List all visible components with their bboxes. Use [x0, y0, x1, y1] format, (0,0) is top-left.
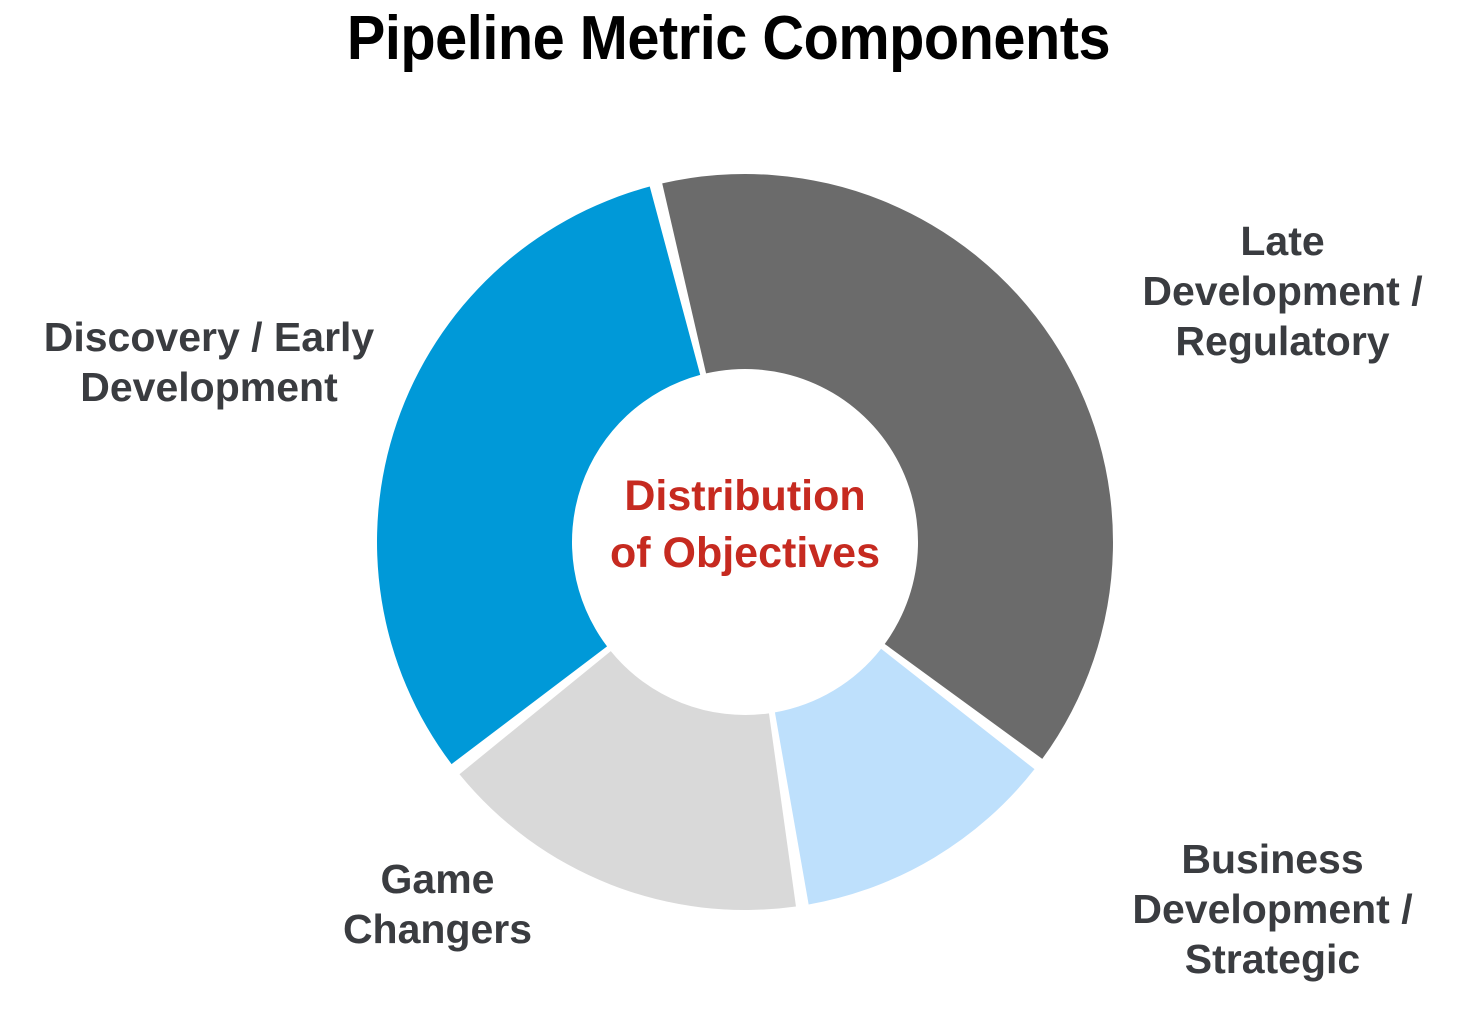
slice-label-business-development-strategic: Business Development / Strategic — [1090, 834, 1455, 984]
donut-center-label: Distribution of Objectives — [555, 468, 935, 582]
center-label-line2: of Objectives — [555, 525, 935, 582]
slice-label-game-changers: Game Changers — [300, 854, 575, 954]
center-label-line1: Distribution — [624, 472, 865, 520]
slice-label-late-development-regulatory: Late Development / Regulatory — [1110, 216, 1455, 366]
slice-label-discovery-early-development: Discovery / Early Development — [0, 312, 424, 412]
